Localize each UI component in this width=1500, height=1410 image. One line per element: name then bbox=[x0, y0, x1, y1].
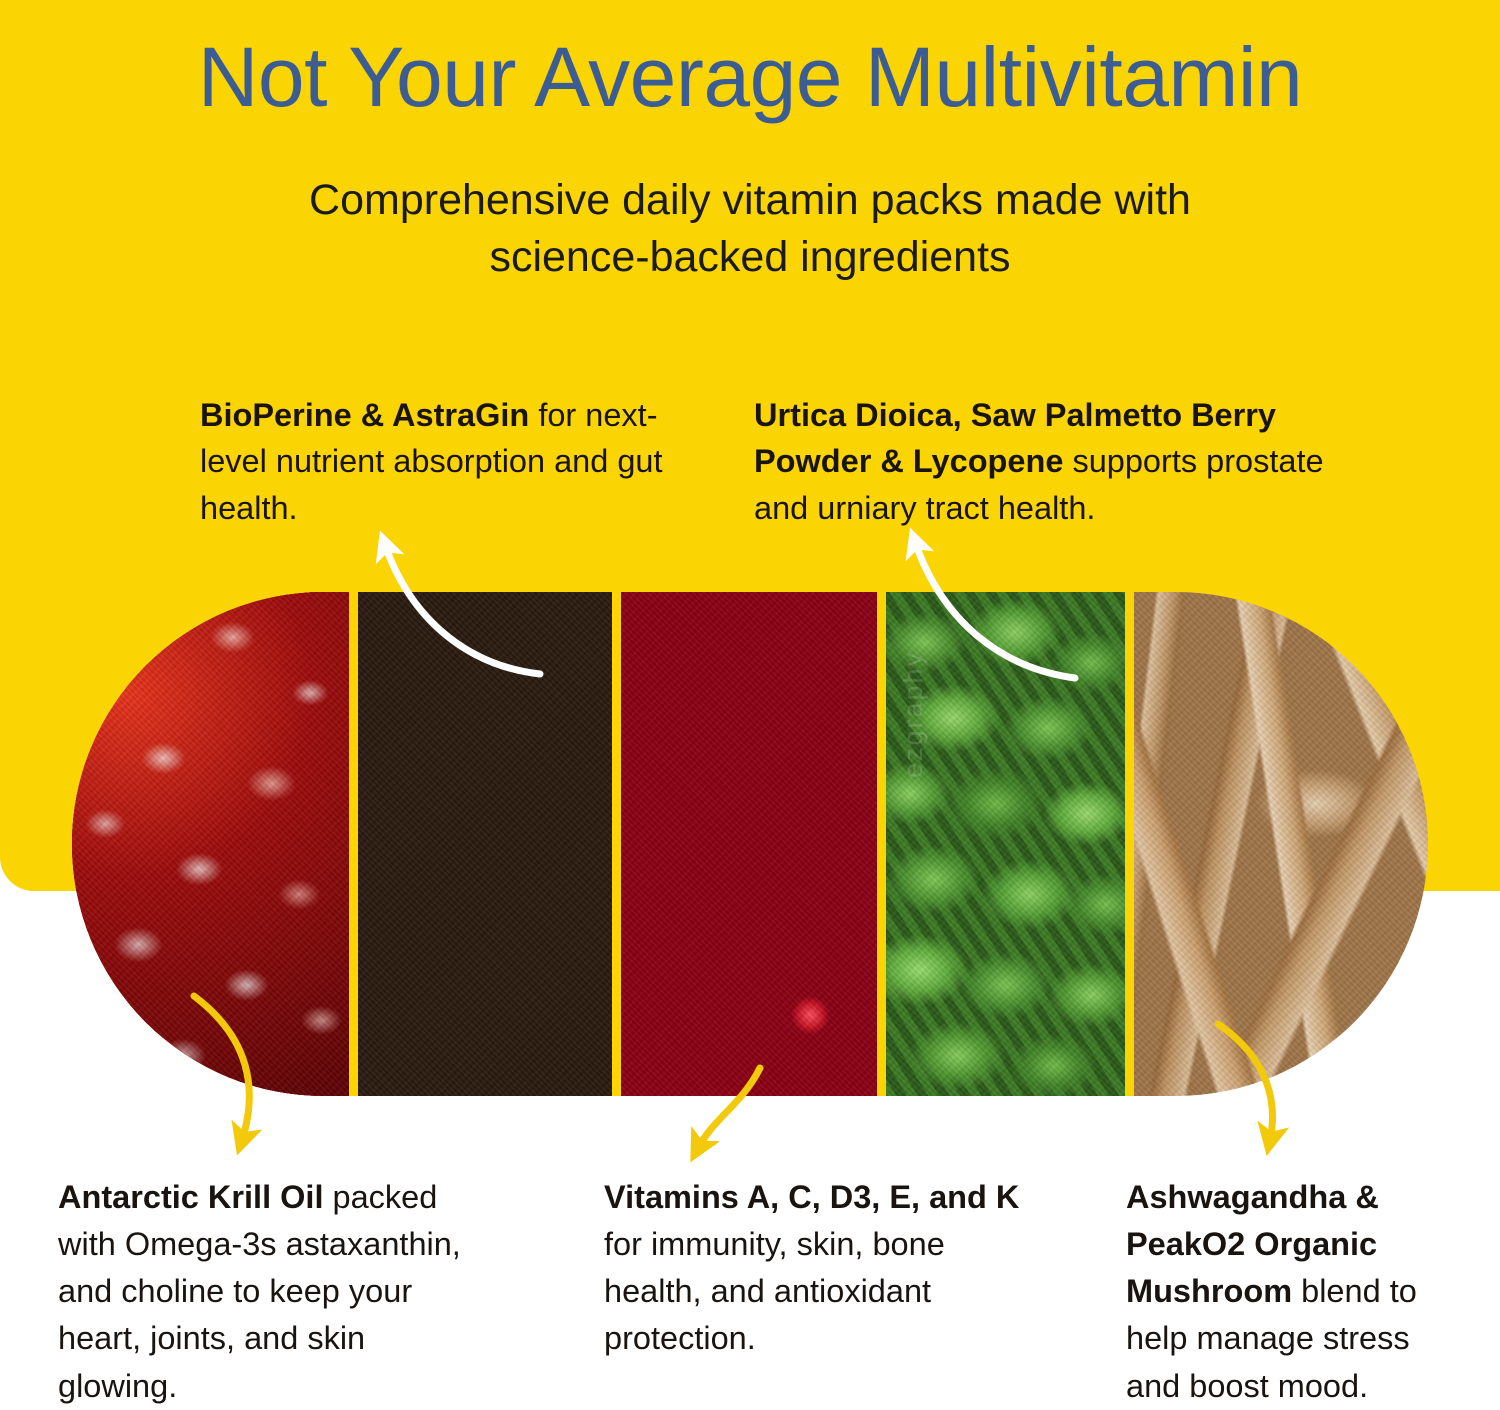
callout-krill: Antarctic Krill Oil packed with Omega-3s… bbox=[58, 1174, 488, 1410]
callout-vitamins-body: for immunity, skin, bone health, and ant… bbox=[604, 1226, 945, 1356]
ingredient-image-ashwagandha-root bbox=[1134, 592, 1428, 1096]
ingredient-image-nettle: ezgraphy bbox=[886, 592, 1134, 1096]
callout-vitamins-heading: Vitamins A, C, D3, E, and K bbox=[604, 1179, 1019, 1215]
ingredient-image-krill-oil bbox=[72, 592, 358, 1096]
callout-bioperine: BioPerine & AstraGin for next-level nutr… bbox=[200, 392, 720, 531]
callout-vitamins: Vitamins A, C, D3, E, and K for immunity… bbox=[604, 1174, 1034, 1363]
ingredient-image-strip: ezgraphy bbox=[72, 592, 1428, 1096]
page-subtitle-line-2: science-backed ingredients bbox=[220, 229, 1280, 286]
callout-urtica: Urtica Dioica, Saw Palmetto Berry Powder… bbox=[754, 392, 1364, 531]
page-title: Not Your Average Multivitamin bbox=[0, 34, 1500, 121]
page-subtitle-line-1: Comprehensive daily vitamin packs made w… bbox=[220, 172, 1280, 229]
page-subtitle: Comprehensive daily vitamin packs made w… bbox=[220, 172, 1280, 286]
callout-bioperine-heading: BioPerine & AstraGin bbox=[200, 397, 529, 433]
ingredient-image-peppercorns bbox=[358, 592, 621, 1096]
callout-krill-heading: Antarctic Krill Oil bbox=[58, 1179, 323, 1215]
callout-ashwagandha: Ashwagandha & PeakO2 Organic Mushroom bl… bbox=[1126, 1174, 1466, 1410]
ingredient-image-produce bbox=[621, 592, 886, 1096]
stock-photo-watermark: ezgraphy bbox=[898, 651, 929, 778]
